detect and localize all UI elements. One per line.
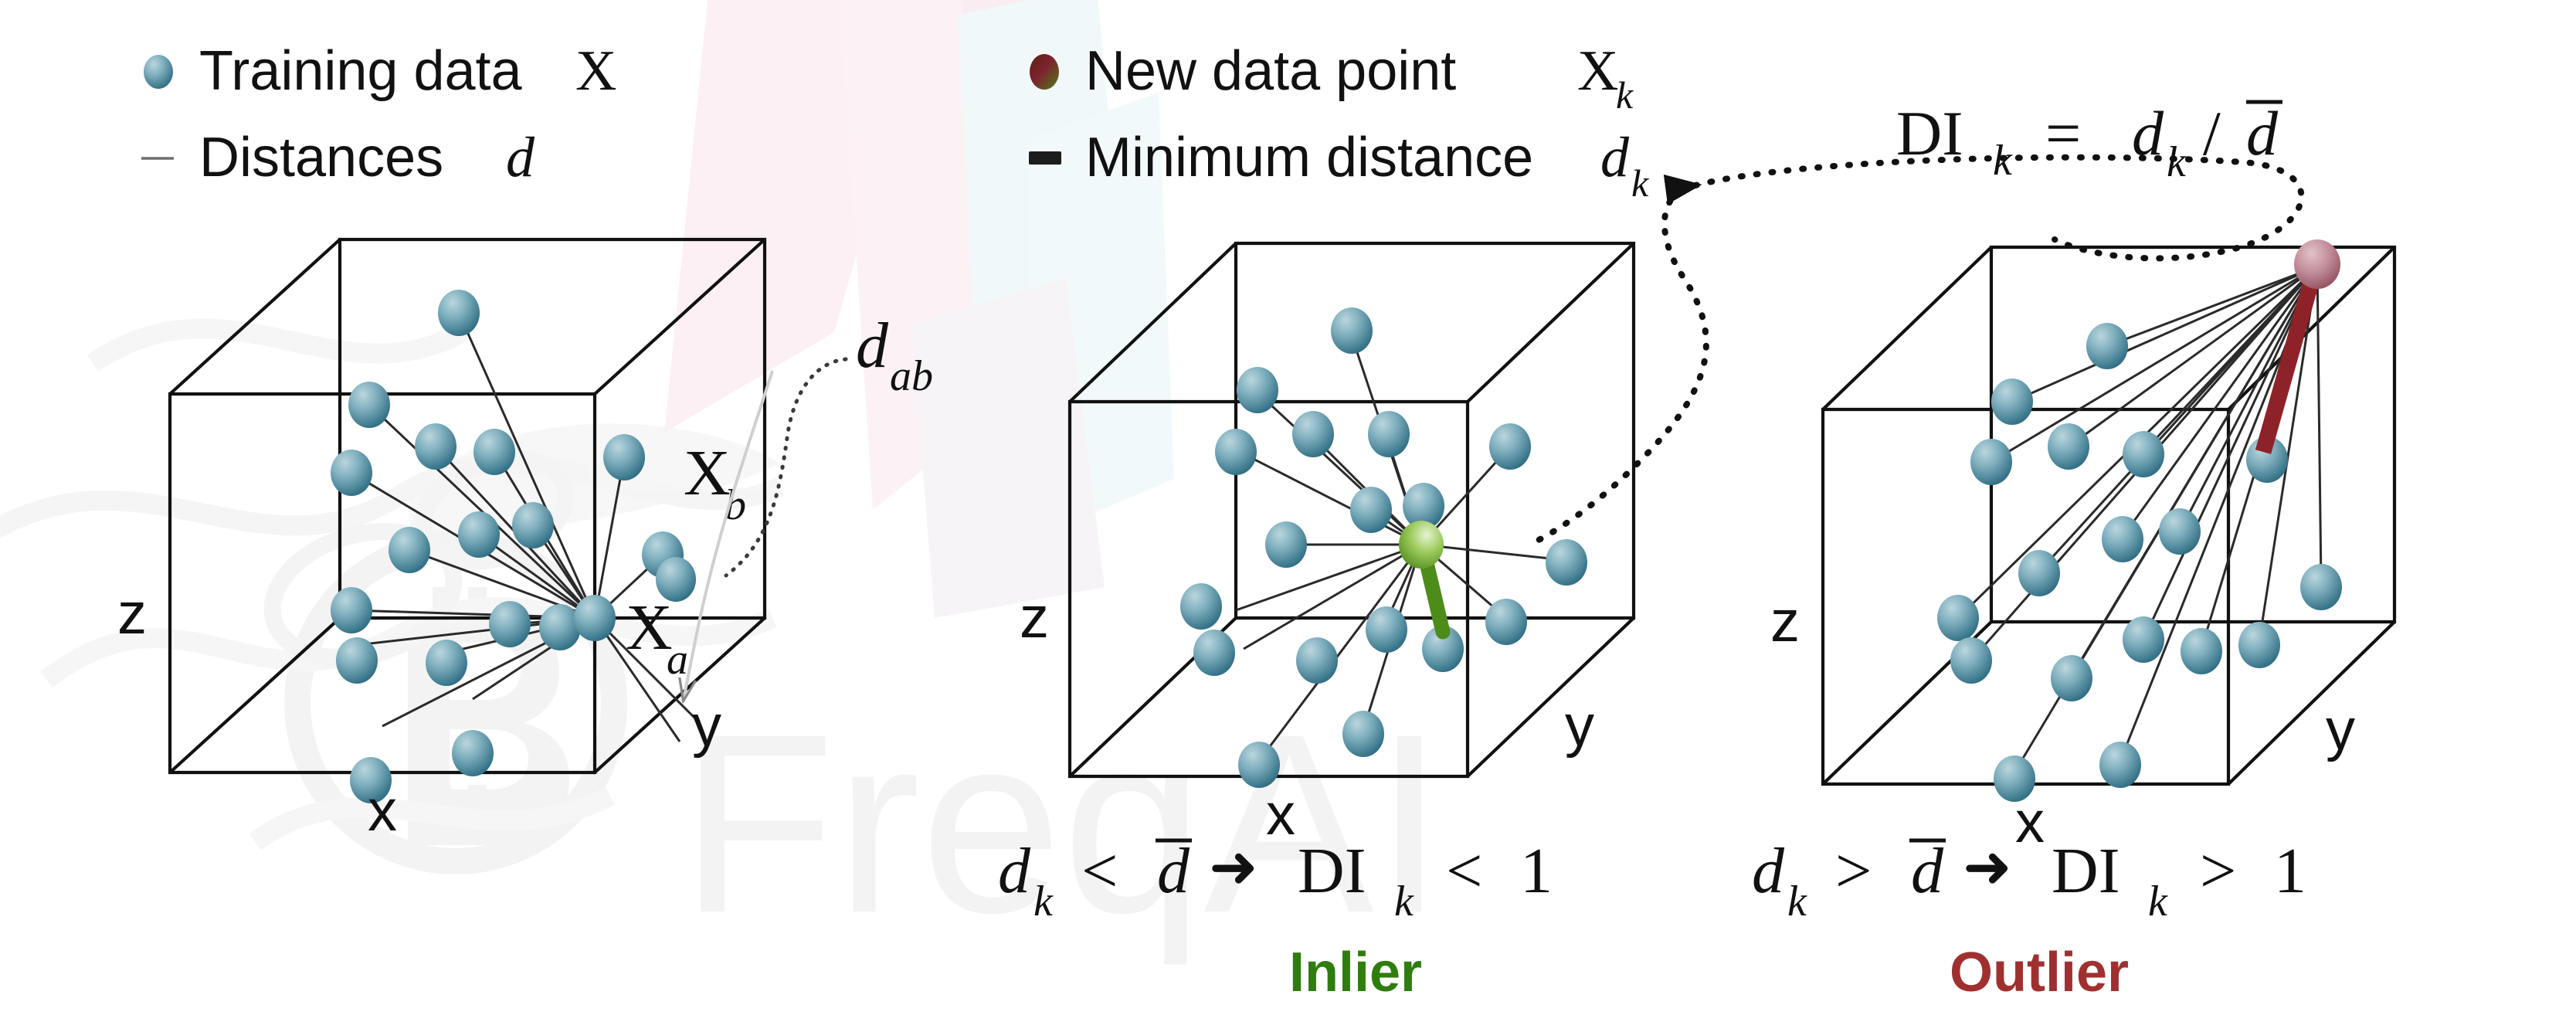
data-point [1991,379,2033,425]
data-point [438,290,480,336]
data-point [1292,411,1334,457]
hub-point-xa [574,595,616,641]
data-point [348,382,390,428]
data-point [2048,423,2089,470]
watermark-text: FreqAI [680,681,1444,967]
data-point [2086,323,2128,369]
legend-item-distances[interactable]: Distances d [141,126,535,189]
data-point [489,601,531,647]
data-point [1546,539,1587,586]
data-point [1368,411,1410,457]
data-point [1366,606,1407,653]
thick-dash-marker-icon [1029,151,1061,165]
legend-symbol-training-data: X [575,39,616,103]
data-point [1970,439,2012,485]
legend-label-new-data-point: New data point [1085,40,1456,102]
legend-label-distances: Distances [199,127,443,188]
data-point [2238,622,2280,668]
new-data-point-outlier [2294,239,2340,289]
di-explanation-diagram: FreqAI Training data X Distances d [0,0,2576,1022]
data-point [1180,583,1222,630]
formula-inlier-relation-2: < [1446,835,1482,907]
data-point [2181,628,2222,674]
formula-outlier-d: 1 [2274,835,2306,907]
data-point [1296,637,1338,684]
data-point [1265,521,1307,568]
label-dab: d [856,310,889,382]
verdict-inlier: Inlier [1289,942,1422,1003]
sphere-marker-gradient-icon [1030,54,1059,90]
axis-label-z: z [117,581,147,647]
legend-symbol-sub-minimum-distance: k [1631,161,1649,205]
label-xa: X [626,592,673,664]
formula-inlier-a: d [998,835,1031,907]
verdict-outlier: Outlier [1950,942,2129,1003]
data-point [1342,711,1384,757]
data-point [331,587,372,633]
sphere-marker-teal-icon [144,55,173,89]
legend-symbol-distances: d [506,126,535,189]
data-point [2300,564,2342,610]
label-xb: X [684,437,731,509]
axis-label-x: x [368,778,397,844]
formula-inlier-c-sub: k [1394,878,1414,925]
data-point [1193,630,1235,676]
data-point [473,429,515,475]
axis-label-x: x [2015,789,2045,855]
legend-item-training-data[interactable]: Training data X [144,39,616,103]
legend-label-training-data: Training data [199,40,523,102]
formula-outlier-b: d [1911,835,1944,907]
axis-label-y: y [1565,693,1594,759]
data-point [331,450,372,496]
data-point [2123,616,2164,663]
data-point [539,604,581,650]
axis-label-y: y [2326,697,2355,762]
panel-outlier: z x y d k > d ➜ DI k > 1 Outlier [1752,239,2394,1003]
data-point [389,527,430,573]
data-point [512,502,554,548]
diagram-root: FreqAI Training data X Distances d [0,0,2576,1022]
data-point [2123,431,2164,477]
formula-di-denominator: d [2246,98,2279,168]
data-point [458,511,500,558]
data-point [415,423,456,470]
formula-di-lhs: DI [1896,98,1963,168]
axis-label-z: z [1770,589,1800,654]
data-point [1215,429,1257,475]
legend-label-minimum-distance: Minimum distance [1085,127,1533,188]
distance-lines [1958,267,2321,772]
formula-outlier-c: DI [2052,835,2120,907]
formula-di-numerator-sub: k [2167,138,2187,186]
data-point [1331,307,1373,354]
label-xa-sub: a [667,636,688,684]
data-point [1485,599,1527,645]
formula-outlier-relation: > [1835,835,1872,907]
legend-item-new-data-point[interactable]: New data point X k [1030,39,1634,117]
legend-symbol-sub-new-data-point: k [1616,73,1634,117]
data-point [426,640,467,686]
axis-label-x: x [1266,782,1295,847]
axis-label-z: z [1020,585,1049,650]
new-data-point-inlier [1399,521,1444,569]
formula-outlier-arrow: ➜ [1963,834,2012,900]
formula-inlier-arrow: ➜ [1209,834,1258,900]
formula-di-definition: DI k = d k / d [1896,98,2282,186]
formula-inlier-b: d [1157,835,1190,907]
formula-outlier-a-sub: k [1787,878,1807,925]
formula-outlier-relation-2: > [2200,835,2236,907]
formula-inlier-d: 1 [1520,835,1553,907]
data-point [2051,655,2092,701]
data-point [1489,423,1531,470]
label-dab-sub: ab [890,352,933,400]
data-point [1237,367,1278,413]
formula-inlier-c: DI [1298,835,1366,907]
data-point [1238,742,1280,788]
legend-symbol-minimum-distance: d [1600,126,1630,189]
formula-outlier-c-sub: k [2148,878,2168,925]
formula-inlier-relation: < [1081,835,1118,907]
legend-symbol-new-data-point: X [1577,39,1618,103]
data-point [1950,637,1992,684]
axis-label-y: y [692,693,721,759]
data-point [1350,487,1392,533]
formula-inlier-a-sub: k [1033,878,1054,925]
data-point [336,637,378,684]
leader-dotted-left [1537,185,1706,541]
data-point [2018,550,2060,596]
data-point [452,730,494,776]
formula-outlier-a: d [1752,835,1785,907]
data-point [2159,508,2201,555]
data-point [603,434,645,480]
data-point [2099,742,2141,788]
data-point [1937,595,1979,641]
data-point [2102,516,2143,562]
